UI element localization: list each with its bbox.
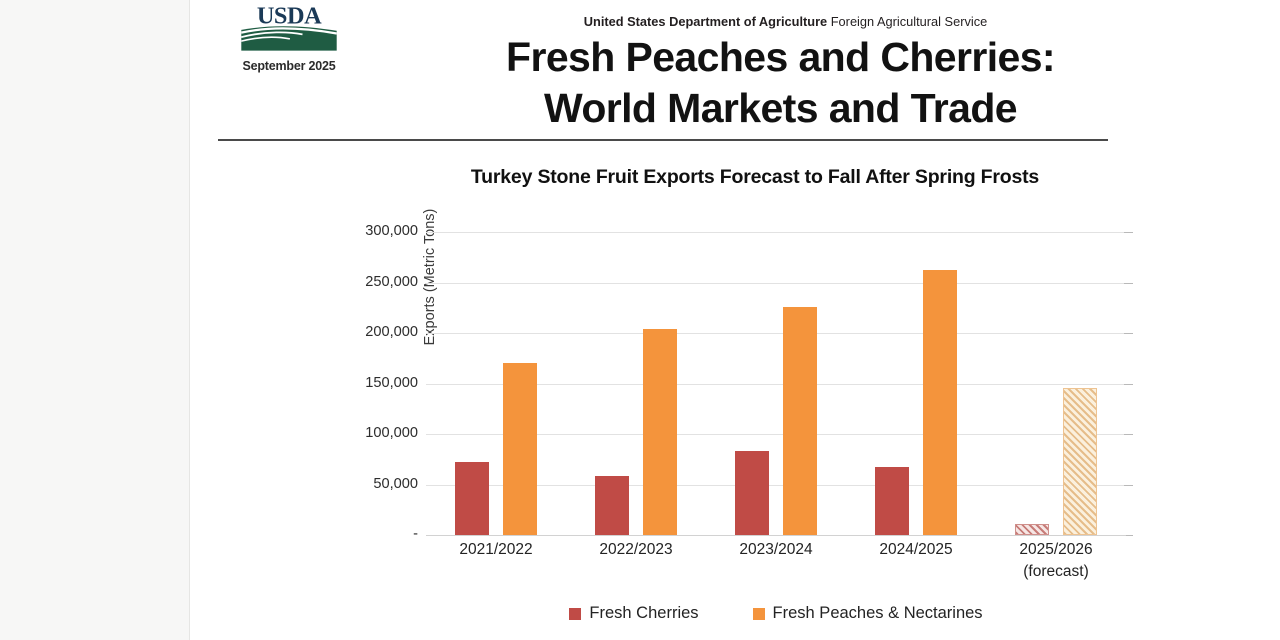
x-axis-tick-label: 2024/2025 [846, 539, 986, 584]
masthead-divider [218, 139, 1108, 141]
chart-title: Turkey Stone Fruit Exports Forecast to F… [190, 166, 1280, 189]
legend-label: Fresh Peaches & Nectarines [773, 604, 983, 623]
bar-group [986, 232, 1126, 535]
legend-item[interactable]: Fresh Cherries [569, 604, 698, 623]
y-axis-tick-label: - [322, 526, 418, 542]
y-axis-tick-label: 200,000 [322, 324, 418, 340]
bar-peaches[interactable] [643, 329, 677, 535]
bar-group [706, 232, 846, 535]
legend-swatch-icon [569, 608, 581, 620]
report-title-line-1: Fresh Peaches and Cherries: [290, 32, 1271, 83]
y-axis-tick-label: 50,000 [322, 476, 418, 492]
x-axis-labels: 2021/20222022/20232023/20242024/20252025… [426, 539, 1126, 584]
x-axis-tick-label: 2021/2022 [426, 539, 566, 584]
report-masthead: USDA September 2025 United States Depart… [190, 0, 1280, 140]
bar-peaches[interactable] [923, 270, 957, 535]
bar-cherries[interactable] [595, 476, 629, 535]
agency-line: United States Department of Agriculture … [190, 14, 1280, 29]
report-title-line-2: World Markets and Trade [290, 83, 1271, 134]
report-title: Fresh Peaches and Cherries: World Market… [290, 32, 1271, 135]
x-axis-tick-label: 2022/2023 [566, 539, 706, 584]
bar-chart: Exports (Metric Tons) 300,000250,000200,… [326, 206, 1256, 636]
legend-label: Fresh Cherries [589, 604, 698, 623]
legend-item[interactable]: Fresh Peaches & Nectarines [753, 604, 983, 623]
y-axis-tick-label: 100,000 [322, 425, 418, 441]
x-axis-tick-label: 2023/2024 [706, 539, 846, 584]
y-axis-tick-label: 250,000 [322, 274, 418, 290]
bar-peaches[interactable] [503, 363, 537, 535]
bar-cherries[interactable] [455, 462, 489, 535]
chart-legend: Fresh CherriesFresh Peaches & Nectarines [426, 604, 1126, 623]
bar-group [846, 232, 986, 535]
plot-area: 300,000250,000200,000150,000100,00050,00… [426, 232, 1126, 535]
y-axis-tick-label: 150,000 [322, 375, 418, 391]
bar-cherries[interactable] [875, 467, 909, 535]
agency-service: Foreign Agricultural Service [827, 14, 987, 29]
agency-department: United States Department of Agriculture [584, 14, 827, 29]
bar-groups [426, 232, 1126, 535]
bar-group [426, 232, 566, 535]
y-axis-tick-label: 300,000 [322, 223, 418, 239]
legend-swatch-icon [753, 608, 765, 620]
bar-cherries[interactable] [1015, 524, 1049, 535]
bar-group [566, 232, 706, 535]
report-page: USDA September 2025 United States Depart… [189, 0, 1280, 640]
x-axis-line [426, 535, 1126, 536]
bar-cherries[interactable] [735, 451, 769, 535]
bar-peaches[interactable] [1063, 388, 1097, 535]
x-axis-tick-label: 2025/2026(forecast) [986, 539, 1126, 584]
screenshot-root: USDA September 2025 United States Depart… [0, 0, 1280, 640]
bar-peaches[interactable] [783, 307, 817, 535]
